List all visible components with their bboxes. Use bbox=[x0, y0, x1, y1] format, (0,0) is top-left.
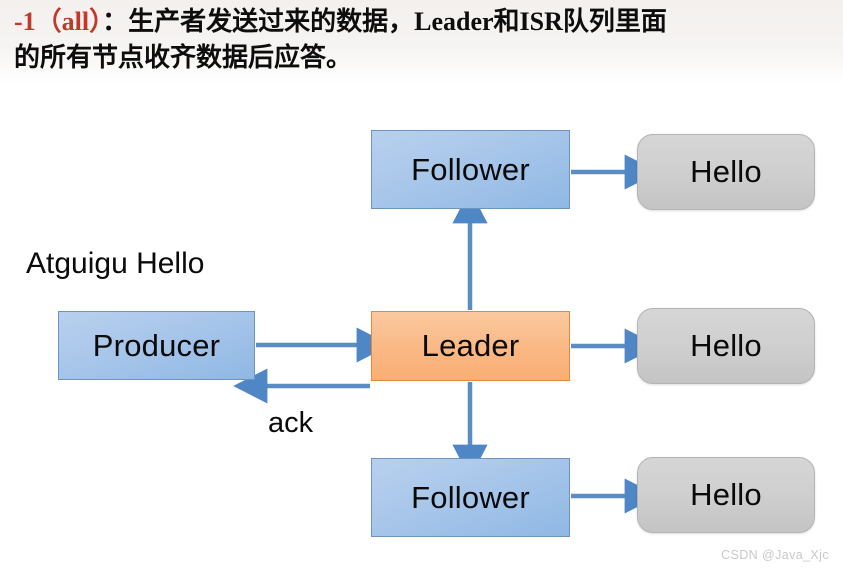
watermark: CSDN @Java_Xjc bbox=[721, 548, 829, 562]
node-follower-bottom-label: Follower bbox=[411, 480, 530, 516]
caption-line2: 的所有节点收齐数据后应答。 bbox=[14, 43, 352, 72]
node-hello-top[interactable]: Hello bbox=[637, 134, 815, 210]
node-hello-top-label: Hello bbox=[690, 154, 762, 190]
kafka-ack-diagram: Follower Hello Producer Leader Hello Fol… bbox=[0, 84, 843, 569]
node-producer[interactable]: Producer bbox=[58, 311, 255, 380]
label-atguigu-hello: Atguigu Hello bbox=[26, 247, 204, 281]
node-leader[interactable]: Leader bbox=[371, 311, 570, 381]
node-follower-bottom[interactable]: Follower bbox=[371, 458, 570, 537]
node-leader-label: Leader bbox=[422, 328, 520, 364]
caption-highlight: -1（all） bbox=[14, 7, 102, 36]
node-hello-bottom-label: Hello bbox=[690, 477, 762, 513]
node-follower-top[interactable]: Follower bbox=[371, 130, 570, 209]
node-hello-mid-label: Hello bbox=[690, 328, 762, 364]
caption-line1-rest: ：生产者发送过来的数据，Leader和ISR队列里面 bbox=[102, 7, 667, 36]
label-ack: ack bbox=[268, 407, 313, 440]
node-follower-top-label: Follower bbox=[411, 152, 530, 188]
node-hello-bottom[interactable]: Hello bbox=[637, 457, 815, 533]
caption-band: -1（all）：生产者发送过来的数据，Leader和ISR队列里面 的所有节点收… bbox=[0, 0, 843, 84]
caption-text: -1（all）：生产者发送过来的数据，Leader和ISR队列里面 的所有节点收… bbox=[14, 4, 840, 76]
node-producer-label: Producer bbox=[93, 328, 220, 364]
node-hello-mid[interactable]: Hello bbox=[637, 308, 815, 384]
